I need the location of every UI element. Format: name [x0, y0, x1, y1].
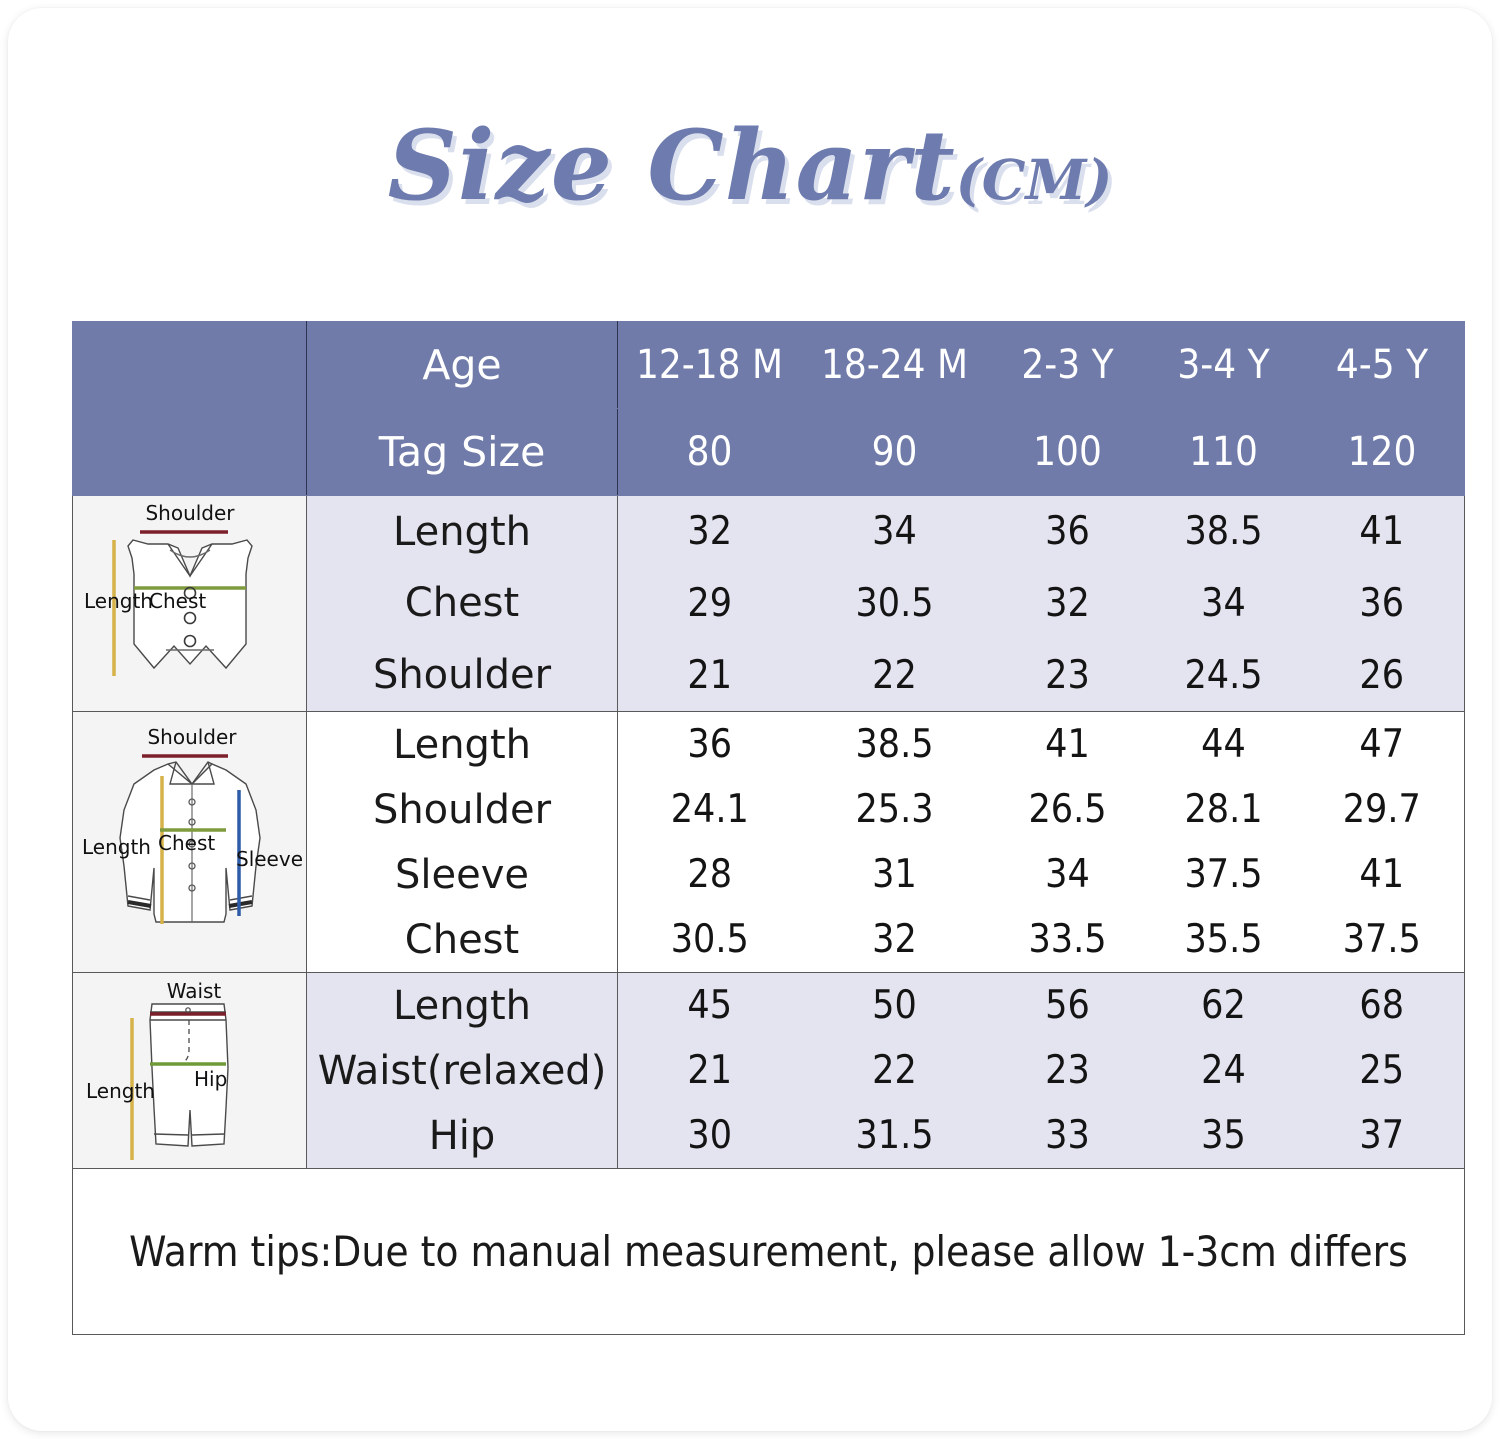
size-chart-card: Size Chart(CM) Age 12-18 M 18-24 M 2-3 Y… — [8, 8, 1492, 1431]
pants-waist-label: Waist — [166, 979, 221, 1003]
row-value: 30 — [618, 1103, 802, 1169]
row-label: Length — [307, 496, 618, 568]
pants-length-label: Length — [86, 1079, 155, 1103]
pants-hip-label: Hip — [194, 1067, 227, 1091]
row-label: Waist(relaxed) — [307, 1038, 618, 1103]
header-tagsize-label: Tag Size — [307, 409, 618, 496]
row-label: Hip — [307, 1103, 618, 1169]
row-value: 50 — [802, 973, 988, 1039]
table-header-age-row: Age 12-18 M 18-24 M 2-3 Y 3-4 Y 4-5 Y — [73, 322, 1465, 409]
warm-tips-note: Warm tips:Due to manual measurement, ple… — [73, 1169, 1465, 1335]
shirt-length-label: Length — [82, 835, 151, 859]
row-value: 32 — [618, 496, 802, 568]
header-age-label: Age — [307, 322, 618, 409]
row-value: 33.5 — [988, 907, 1148, 973]
row-value: 36 — [988, 496, 1148, 568]
row-label: Length — [307, 712, 618, 778]
row-value: 28 — [618, 842, 802, 907]
row-value: 47 — [1300, 712, 1465, 778]
vest-diagram-cell: Shoulder — [73, 496, 307, 712]
shirt-shoulder-label: Shoulder — [147, 725, 237, 749]
vest-shoulder-label: Shoulder — [145, 501, 235, 525]
row-value: 32 — [802, 907, 988, 973]
header-tagsize-3: 110 — [1148, 409, 1300, 496]
row-label: Shoulder — [307, 639, 618, 711]
row-value: 24.5 — [1148, 639, 1300, 711]
row-value: 34 — [802, 496, 988, 568]
row-value: 26 — [1300, 639, 1465, 711]
vest-diagram-icon: Shoulder — [76, 496, 304, 711]
header-age-1: 18-24 M — [802, 322, 988, 409]
row-value: 22 — [802, 1038, 988, 1103]
row-value: 38.5 — [802, 712, 988, 778]
row-value: 31 — [802, 842, 988, 907]
row-value: 23 — [988, 1038, 1148, 1103]
row-value: 37 — [1300, 1103, 1465, 1169]
page-title: Size Chart(CM) — [8, 116, 1492, 246]
footer-note-row: Warm tips:Due to manual measurement, ple… — [73, 1169, 1465, 1335]
shirt-diagram-cell: Shoulder — [73, 712, 307, 973]
row-label: Chest — [307, 568, 618, 640]
row-value: 21 — [618, 639, 802, 711]
header-tagsize-4: 120 — [1300, 409, 1465, 496]
row-value: 36 — [1300, 568, 1465, 640]
pants-diagram-icon: Waist Hip — [76, 976, 304, 1166]
row-value: 33 — [988, 1103, 1148, 1169]
row-label: Shoulder — [307, 777, 618, 842]
row-value: 22 — [802, 639, 988, 711]
table-row: Waist Hip — [73, 973, 1465, 1039]
row-value: 38.5 — [1148, 496, 1300, 568]
row-value: 26.5 — [988, 777, 1148, 842]
title-unit: (CM) — [956, 147, 1113, 212]
row-value: 35 — [1148, 1103, 1300, 1169]
row-value: 56 — [988, 973, 1148, 1039]
row-value: 23 — [988, 639, 1148, 711]
row-value: 30.5 — [802, 568, 988, 640]
row-value: 35.5 — [1148, 907, 1300, 973]
row-value: 62 — [1148, 973, 1300, 1039]
row-value: 41 — [1300, 842, 1465, 907]
header-age-3: 3-4 Y — [1148, 322, 1300, 409]
row-value: 31.5 — [802, 1103, 988, 1169]
shirt-sleeve-label: Sleeve — [236, 847, 303, 871]
header-age-0: 12-18 M — [618, 322, 802, 409]
vest-length-label: Length — [84, 589, 153, 613]
row-value: 29 — [618, 568, 802, 640]
row-value: 37.5 — [1148, 842, 1300, 907]
row-value: 28.1 — [1148, 777, 1300, 842]
row-value: 32 — [988, 568, 1148, 640]
row-value: 41 — [1300, 496, 1465, 568]
table-row: Shoulder — [73, 496, 1465, 568]
row-value: 29.7 — [1300, 777, 1465, 842]
row-value: 68 — [1300, 973, 1465, 1039]
header-age-4: 4-5 Y — [1300, 322, 1465, 409]
vest-chest-label: Chest — [149, 589, 206, 613]
row-value: 25.3 — [802, 777, 988, 842]
row-label: Sleeve — [307, 842, 618, 907]
pants-diagram-cell: Waist Hip — [73, 973, 307, 1169]
size-chart-table: Age 12-18 M 18-24 M 2-3 Y 3-4 Y 4-5 Y Ta… — [72, 321, 1465, 1335]
row-value: 34 — [1148, 568, 1300, 640]
row-label: Chest — [307, 907, 618, 973]
row-label: Length — [307, 973, 618, 1039]
shirt-chest-label: Chest — [158, 831, 215, 855]
row-value: 30.5 — [618, 907, 802, 973]
row-value: 36 — [618, 712, 802, 778]
header-age-2: 2-3 Y — [988, 322, 1148, 409]
shirt-diagram-icon: Shoulder — [76, 718, 304, 966]
header-corner-blank — [73, 322, 307, 496]
row-value: 24 — [1148, 1038, 1300, 1103]
row-value: 44 — [1148, 712, 1300, 778]
header-tagsize-1: 90 — [802, 409, 988, 496]
row-value: 41 — [988, 712, 1148, 778]
header-tagsize-0: 80 — [618, 409, 802, 496]
title-main: Size Chart — [388, 109, 956, 222]
row-value: 25 — [1300, 1038, 1465, 1103]
row-value: 37.5 — [1300, 907, 1465, 973]
row-value: 34 — [988, 842, 1148, 907]
row-value: 45 — [618, 973, 802, 1039]
row-value: 21 — [618, 1038, 802, 1103]
table-row: Shoulder — [73, 712, 1465, 778]
header-tagsize-2: 100 — [988, 409, 1148, 496]
row-value: 24.1 — [618, 777, 802, 842]
